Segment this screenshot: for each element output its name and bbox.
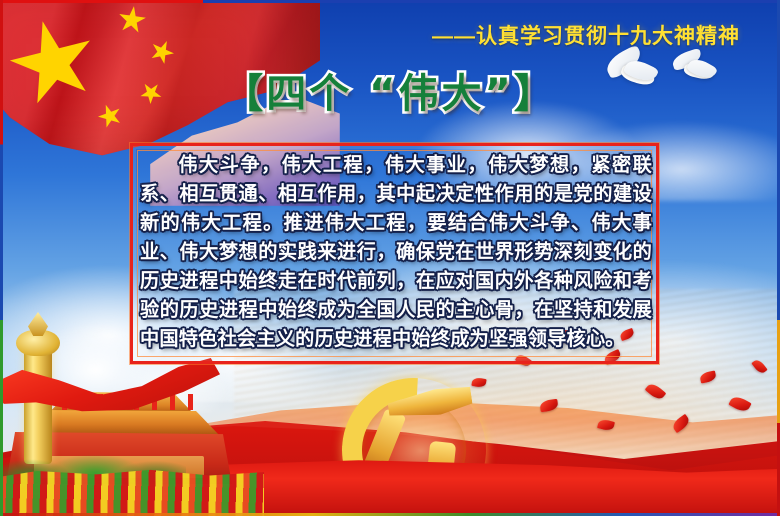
border-left [0,0,3,516]
header-slogan: ——认真学习贯彻十九大神精神 [432,20,740,50]
title-container: 【四个 “伟大”】 [0,74,780,114]
poster-canvas: ——认真学习贯彻十九大神精神 【四个 “伟大”】 [0,0,780,516]
border-top [0,0,780,3]
body-paragraph: 伟大斗争，伟大工程，伟大事业，伟大梦想，紧密联系、相互贯通、相互作用，其中起决定… [140,150,652,353]
page-title: 【四个 “伟大”】 [223,74,557,114]
huabiao-column-icon [24,346,52,464]
